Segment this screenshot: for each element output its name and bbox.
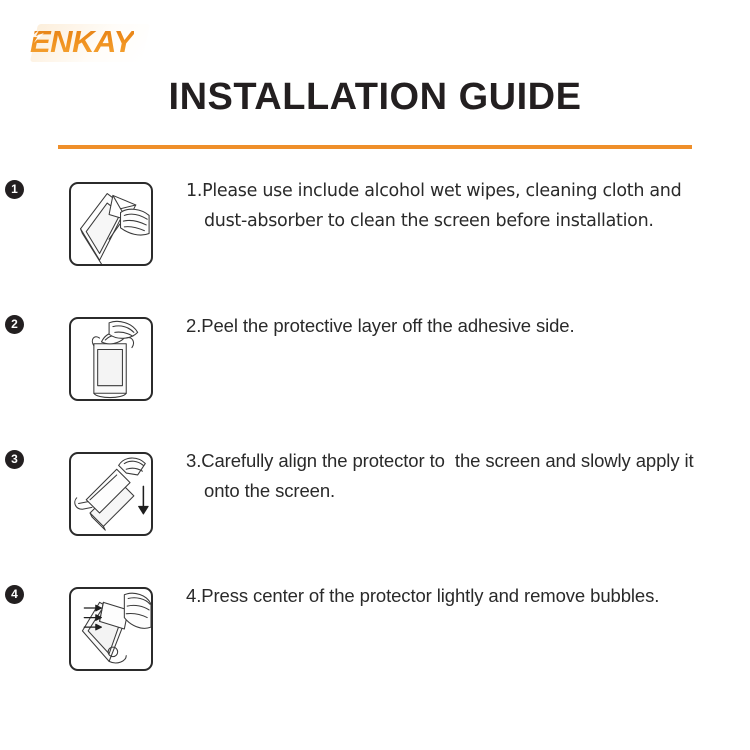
list-item: 2 2.Peel the protective layer off the ad… xyxy=(0,311,750,446)
step-description: 2.Peel the protective layer off the adhe… xyxy=(186,311,706,341)
hand-wiping-phone-screen-icon xyxy=(69,182,153,266)
list-item: 4 4.Press center of the protector lightl… xyxy=(0,581,750,716)
hand-peeling-protective-layer-icon xyxy=(69,317,153,401)
list-item: 1 1.Please use include alcohol wet wipes… xyxy=(0,176,750,311)
brand-name: ENKAY xyxy=(30,22,134,62)
brand-logo: ENKAY xyxy=(30,22,220,64)
list-item: 3 3.Carefully align the protector to the… xyxy=(0,446,750,581)
pressing-protector-squeegee-icon xyxy=(69,587,153,671)
step-number-badge: 3 xyxy=(5,450,24,469)
step-description: 3.Carefully align the protector to the s… xyxy=(186,446,716,506)
steps-list: 1 1.Please use include alcohol wet wipes… xyxy=(0,176,750,716)
step-description: 1.Please use include alcohol wet wipes, … xyxy=(186,176,706,236)
step-number-badge: 4 xyxy=(5,585,24,604)
page-title: INSTALLATION GUIDE xyxy=(0,76,750,119)
step-number-badge: 2 xyxy=(5,315,24,334)
title-divider xyxy=(58,145,692,149)
step-number-badge: 1 xyxy=(5,180,24,199)
step-description: 4.Press center of the protector lightly … xyxy=(186,581,706,611)
aligning-protector-on-phone-icon xyxy=(69,452,153,536)
